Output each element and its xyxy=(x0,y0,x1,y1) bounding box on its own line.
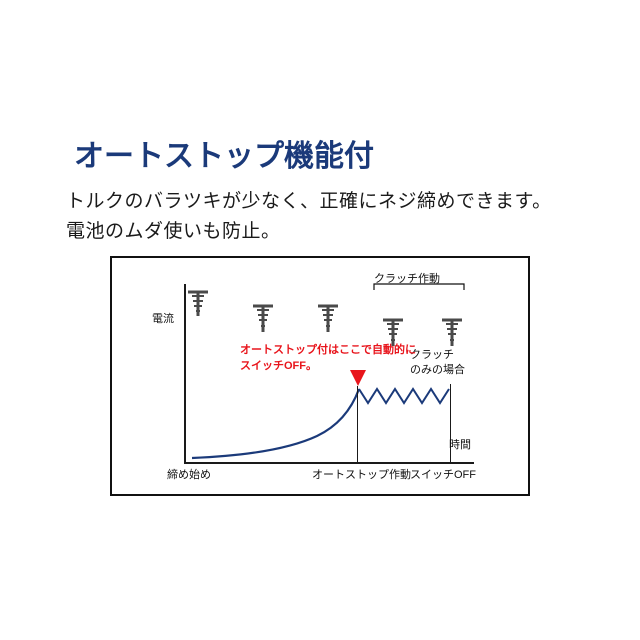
clutch-sawtooth xyxy=(359,389,449,403)
subtitle-line-2: 電池のムダ使いも防止。 xyxy=(66,216,281,243)
y-axis-label: 電流 xyxy=(152,310,174,326)
y-axis xyxy=(184,284,186,464)
label-clutch-only-line2: のみの場合 xyxy=(410,364,465,376)
page-root: オートストップ機能付 トルクのバラツキが少なく、正確にネジ締めできます。 電池の… xyxy=(0,0,640,640)
label-auto-stop: オートストップ作動 xyxy=(312,466,411,482)
x-axis xyxy=(184,462,474,464)
label-clutch-only-line1: クラッチ xyxy=(410,349,454,361)
label-clutch-action: クラッチ作動 xyxy=(374,270,440,286)
page-title: オートストップ機能付 xyxy=(74,131,374,175)
label-start: 締め始め xyxy=(167,466,211,482)
auto-stop-annotation: オートストップ付はここで自動的に スイッチOFF。 xyxy=(240,342,416,374)
subtitle-line-1: トルクのバラツキが少なく、正確にネジ締めできます。 xyxy=(66,186,552,213)
x-axis-label: 時間 xyxy=(449,436,471,452)
auto-stop-annotation-line2: スイッチOFF。 xyxy=(240,358,416,374)
screw-icon-2 xyxy=(253,306,273,332)
screw-icon-3 xyxy=(318,306,338,332)
screw-icon-1 xyxy=(188,292,208,316)
label-clutch-only: クラッチ のみの場合 xyxy=(410,348,465,378)
auto-stop-vertical-line xyxy=(357,386,358,463)
current-time-diagram: 電流 時間 締め始め オートストップ作動 スイッチOFF クラッチ作動 クラッチ… xyxy=(110,256,530,496)
current-curve xyxy=(192,389,359,458)
label-switch-off: スイッチOFF xyxy=(410,466,476,482)
screw-icon-5 xyxy=(442,320,462,346)
auto-stop-annotation-line1: オートストップ付はここで自動的に xyxy=(240,344,416,356)
